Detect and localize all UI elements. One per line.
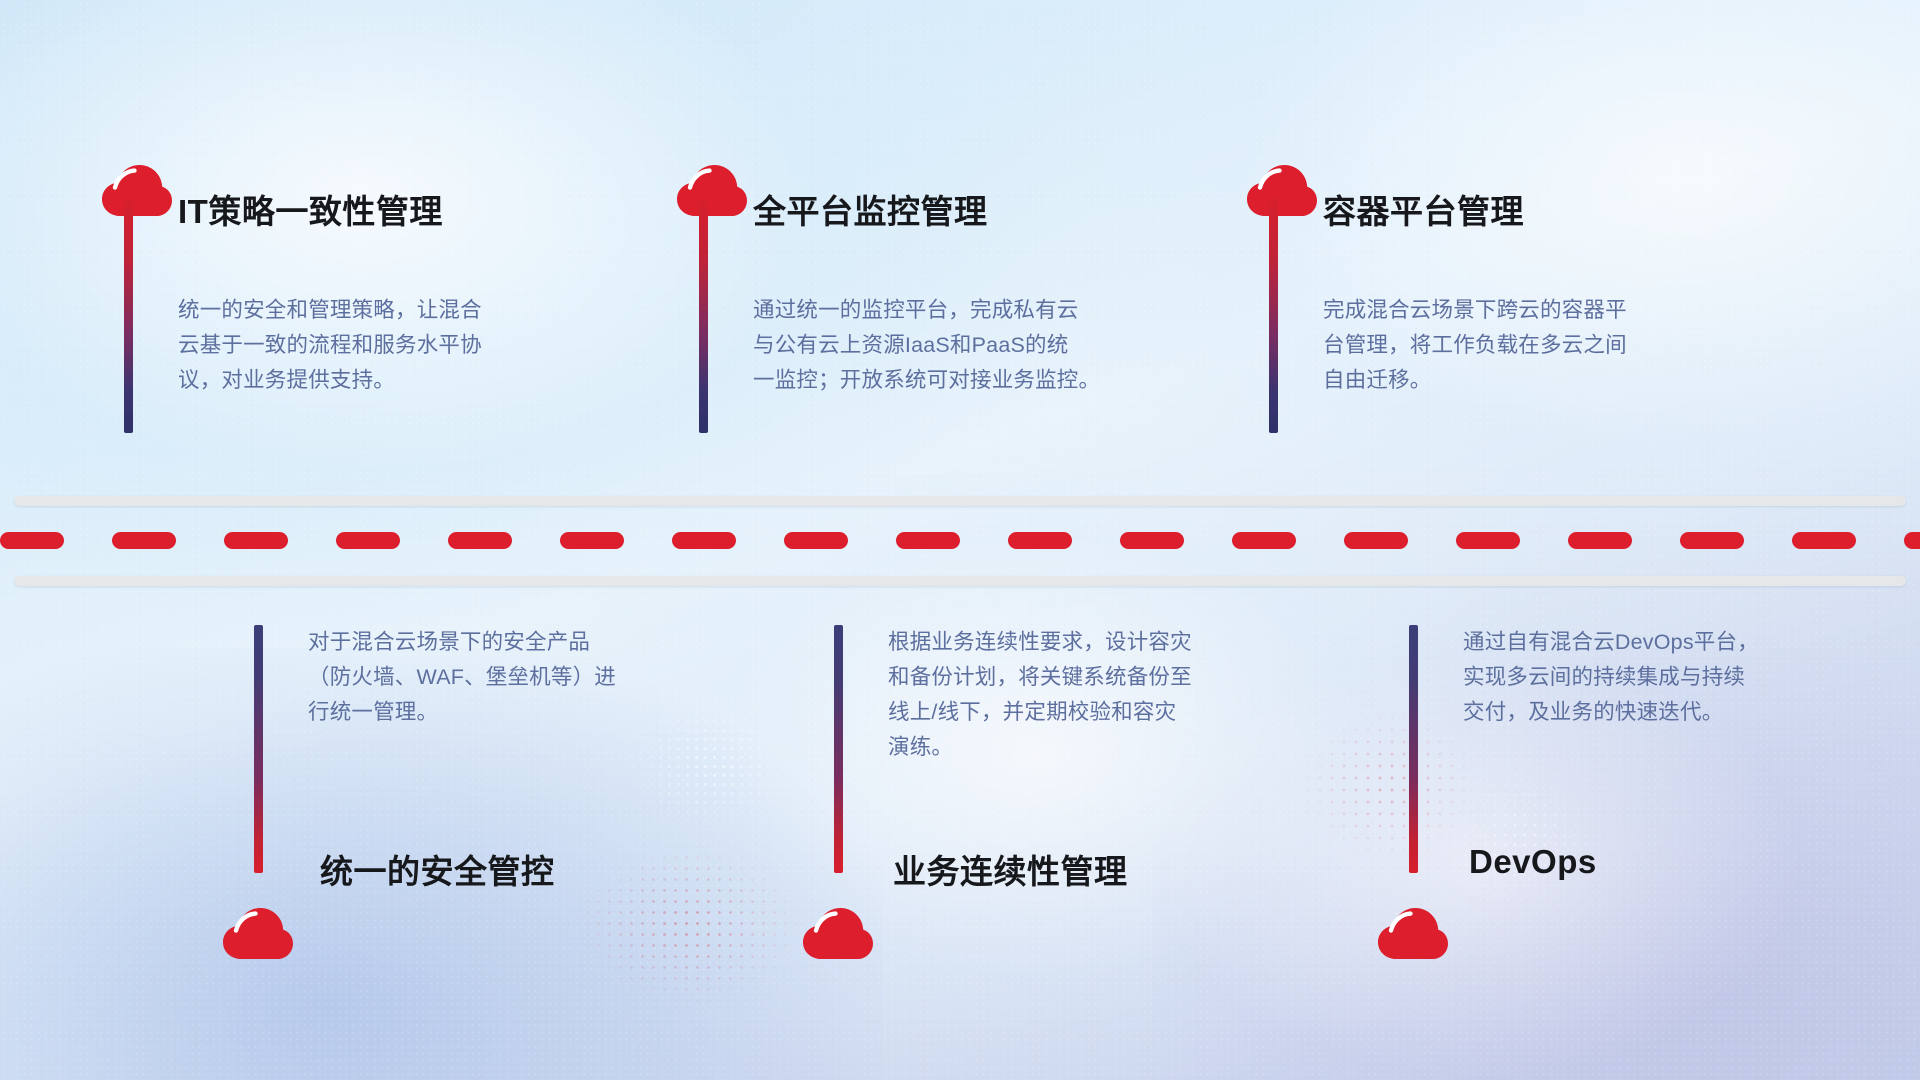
- feature-description: 完成混合云场景下跨云的容器平 台管理，将工作负载在多云之间 自由迁移。: [1323, 293, 1683, 398]
- road-dash: [1568, 532, 1632, 549]
- description-line: 统一的安全和管理策略，让混合: [178, 293, 538, 328]
- description-line: 演练。: [888, 730, 1268, 765]
- description-line: 交付，及业务的快速迭代。: [1463, 695, 1843, 730]
- feature-description: 统一的安全和管理策略，让混合 云基于一致的流程和服务水平协 议，对业务提供支持。: [178, 293, 538, 398]
- road-dash: [0, 532, 64, 549]
- description-line: 实现多云间的持续集成与持续: [1463, 660, 1843, 695]
- feature-title: 容器平台管理: [1323, 185, 1524, 233]
- road-divider: [0, 487, 1920, 597]
- description-line: 行统一管理。: [308, 695, 678, 730]
- feature-title: 统一的安全管控: [320, 845, 555, 893]
- road-dash: [1792, 532, 1856, 549]
- connector-line: [1409, 625, 1418, 873]
- connector-line: [834, 625, 843, 873]
- road-line-bottom: [14, 576, 1906, 586]
- connector-line: [254, 625, 263, 873]
- road-dash: [1680, 532, 1744, 549]
- feature-description: 根据业务连续性要求，设计容灾 和备份计划，将关键系统备份至 线上/线下，并定期校…: [888, 625, 1268, 765]
- description-line: 台管理，将工作负载在多云之间: [1323, 328, 1683, 363]
- road-dash: [224, 532, 288, 549]
- description-line: 一监控；开放系统可对接业务监控。: [753, 363, 1143, 398]
- cloud-icon: [221, 905, 295, 961]
- road-dash: [1008, 532, 1072, 549]
- feature-description: 对于混合云场景下的安全产品 （防火墙、WAF、堡垒机等）进 行统一管理。: [308, 625, 678, 730]
- connector-line: [124, 198, 133, 433]
- description-line: （防火墙、WAF、堡垒机等）进: [308, 660, 678, 695]
- description-line: 线上/线下，并定期校验和容灾: [888, 695, 1268, 730]
- road-dash: [560, 532, 624, 549]
- road-dash: [1120, 532, 1184, 549]
- description-line: 自由迁移。: [1323, 363, 1683, 398]
- road-dash: [1344, 532, 1408, 549]
- cloud-icon: [1376, 905, 1450, 961]
- connector-line: [699, 198, 708, 433]
- feature-title: 业务连续性管理: [893, 845, 1128, 893]
- road-dash: [112, 532, 176, 549]
- description-line: 根据业务连续性要求，设计容灾: [888, 625, 1268, 660]
- road-dash: [896, 532, 960, 549]
- dot-texture-red-left: [560, 830, 820, 1020]
- cloud-icon: [1245, 162, 1319, 218]
- feature-description: 通过统一的监控平台，完成私有云 与公有云上资源IaaS和PaaS的统 一监控；开…: [753, 293, 1143, 398]
- cloud-icon: [801, 905, 875, 961]
- dot-texture-white-right: [1430, 760, 1610, 920]
- description-line: 和备份计划，将关键系统备份至: [888, 660, 1268, 695]
- feature-title: DevOps: [1469, 843, 1597, 881]
- road-dash: [336, 532, 400, 549]
- description-line: 完成混合云场景下跨云的容器平: [1323, 293, 1683, 328]
- road-line-top: [14, 496, 1906, 506]
- description-line: 对于混合云场景下的安全产品: [308, 625, 678, 660]
- road-dash: [672, 532, 736, 549]
- cloud-icon: [675, 162, 749, 218]
- description-line: 与公有云上资源IaaS和PaaS的统: [753, 328, 1143, 363]
- description-line: 通过自有混合云DevOps平台，: [1463, 625, 1843, 660]
- cloud-icon: [100, 162, 174, 218]
- connector-line: [1269, 198, 1278, 433]
- road-dash: [1456, 532, 1520, 549]
- infographic-canvas: IT策略一致性管理 统一的安全和管理策略，让混合 云基于一致的流程和服务水平协 …: [0, 0, 1920, 1080]
- feature-title: 全平台监控管理: [753, 185, 988, 233]
- road-dash-row: [0, 531, 1920, 549]
- road-dash: [448, 532, 512, 549]
- feature-title: IT策略一致性管理: [178, 185, 443, 233]
- road-dash: [784, 532, 848, 549]
- description-line: 通过统一的监控平台，完成私有云: [753, 293, 1143, 328]
- road-dash: [1232, 532, 1296, 549]
- road-dash: [1904, 532, 1920, 549]
- description-line: 议，对业务提供支持。: [178, 363, 538, 398]
- feature-description: 通过自有混合云DevOps平台， 实现多云间的持续集成与持续 交付，及业务的快速…: [1463, 625, 1843, 730]
- description-line: 云基于一致的流程和服务水平协: [178, 328, 538, 363]
